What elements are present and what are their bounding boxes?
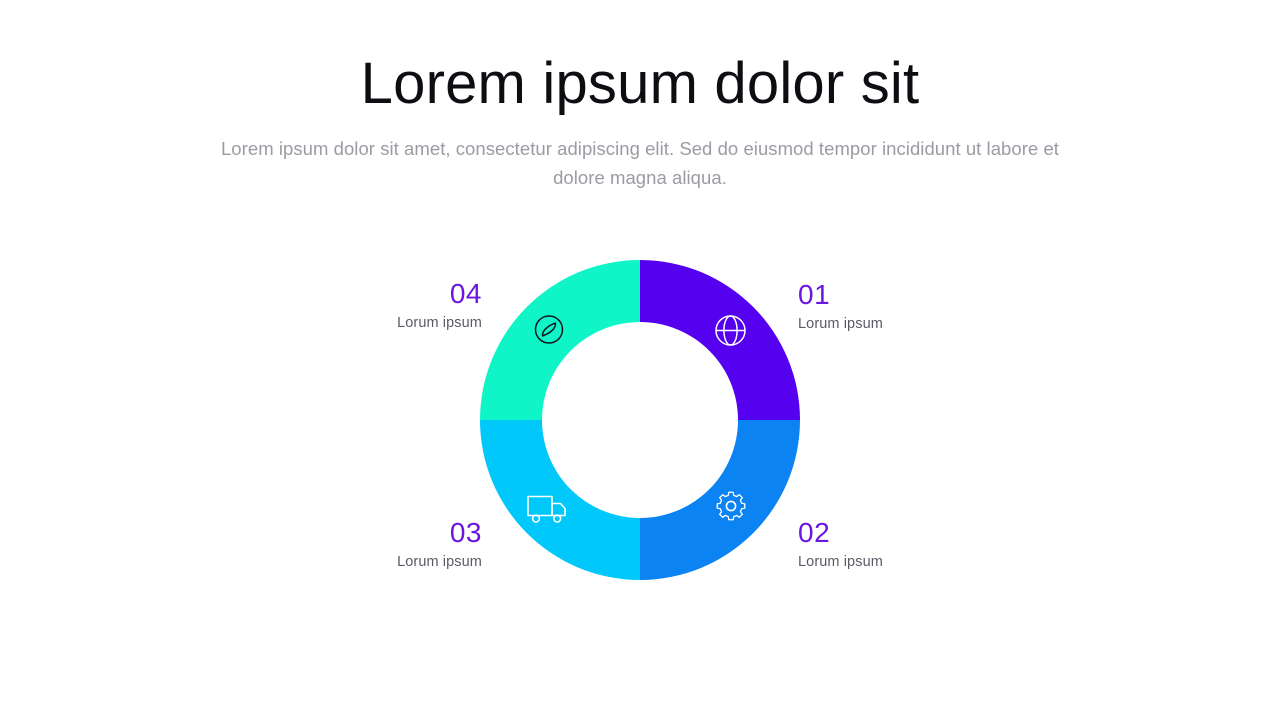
callout-01-number: 01 (798, 279, 988, 311)
donut-hole (542, 322, 738, 518)
donut-chart: 01 Lorum ipsum 02 Lorum ipsum 03 Lorum i… (0, 0, 1280, 720)
callout-01-label: Lorum ipsum (798, 315, 988, 334)
donut-chart-svg (460, 240, 820, 600)
slide-canvas: Lorem ipsum dolor sit Lorem ipsum dolor … (0, 0, 1280, 720)
callout-02[interactable]: 02 Lorum ipsum (798, 517, 988, 572)
callout-03[interactable]: 03 Lorum ipsum (292, 517, 482, 572)
callout-04-label: Lorum ipsum (292, 314, 482, 333)
callout-02-number: 02 (798, 517, 988, 549)
callout-01[interactable]: 01 Lorum ipsum (798, 279, 988, 334)
callout-03-number: 03 (292, 517, 482, 549)
callout-04-number: 04 (292, 278, 482, 310)
callout-03-label: Lorum ipsum (292, 553, 482, 572)
callout-04[interactable]: 04 Lorum ipsum (292, 278, 482, 333)
callout-02-label: Lorum ipsum (798, 553, 988, 572)
